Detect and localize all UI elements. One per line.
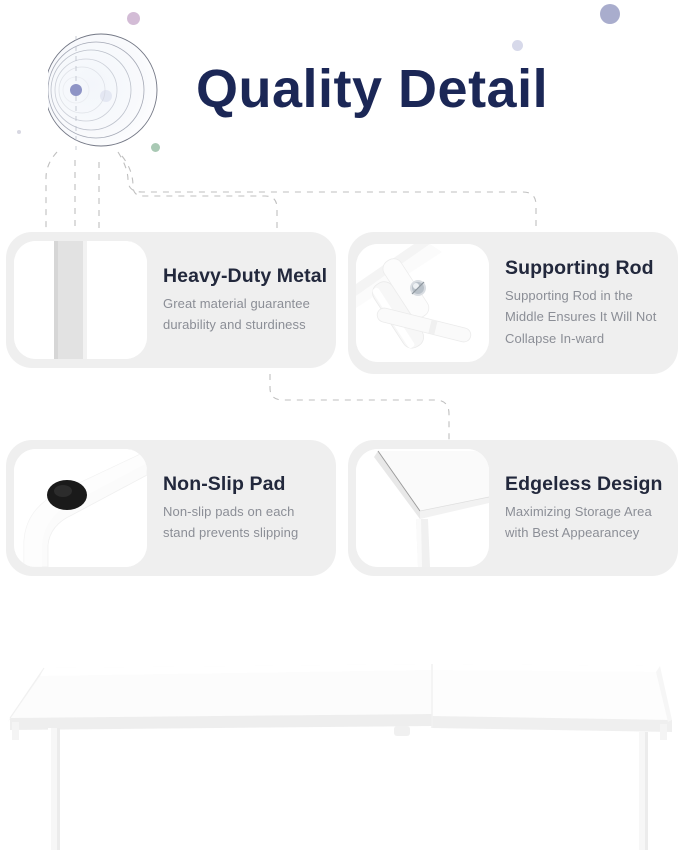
- table-corner-photo: [356, 449, 489, 567]
- card-text: Non-Slip Pad Non-slip pads on each stand…: [147, 473, 336, 543]
- card-desc-line: stand prevents slipping: [163, 522, 326, 543]
- card-description: Maximizing Storage Area with Best Appear…: [505, 501, 668, 543]
- feature-card-supporting-rod[interactable]: Supporting Rod Supporting Rod in the Mid…: [348, 232, 678, 374]
- card-text: Heavy-Duty Metal Great material guarante…: [147, 265, 337, 335]
- card-desc-line: Great material guarantee: [163, 293, 327, 314]
- card-title: Non-Slip Pad: [163, 473, 326, 496]
- feature-card-heavy-duty-metal[interactable]: Heavy-Duty Metal Great material guarante…: [6, 232, 336, 368]
- card-desc-line: with Best Appearancey: [505, 522, 668, 543]
- card-description: Non-slip pads on each stand prevents sli…: [163, 501, 326, 543]
- metal-bar-photo: [14, 241, 147, 359]
- page-title: Quality Detail: [196, 62, 548, 116]
- supporting-rod-photo: [356, 244, 489, 362]
- card-description: Supporting Rod in the Middle Ensures It …: [505, 285, 668, 348]
- card-desc-line: Collapse In-ward: [505, 328, 668, 349]
- connector-to-edgeless-design: [270, 374, 449, 440]
- card-description: Great material guarantee durability and …: [163, 293, 327, 335]
- card-text: Edgeless Design Maximizing Storage Area …: [489, 473, 678, 543]
- card-desc-line: Supporting Rod in the: [505, 285, 668, 306]
- feature-card-non-slip-pad[interactable]: Non-Slip Pad Non-slip pads on each stand…: [6, 440, 336, 576]
- card-title: Edgeless Design: [505, 473, 668, 496]
- card-desc-line: Non-slip pads on each: [163, 501, 326, 522]
- card-text: Supporting Rod Supporting Rod in the Mid…: [489, 257, 678, 348]
- card-desc-line: durability and sturdiness: [163, 314, 327, 335]
- feature-card-edgeless-design[interactable]: Edgeless Design Maximizing Storage Area …: [348, 440, 678, 576]
- non-slip-pad-photo: [14, 449, 147, 567]
- white-extendable-table-photo: [0, 636, 679, 850]
- card-desc-line: Maximizing Storage Area: [505, 501, 668, 522]
- card-title: Supporting Rod: [505, 257, 668, 280]
- concentric-circles-icon: [48, 32, 166, 152]
- header: Quality Detail: [0, 0, 679, 200]
- card-title: Heavy-Duty Metal: [163, 265, 327, 288]
- card-desc-line: Middle Ensures It Will Not: [505, 306, 668, 327]
